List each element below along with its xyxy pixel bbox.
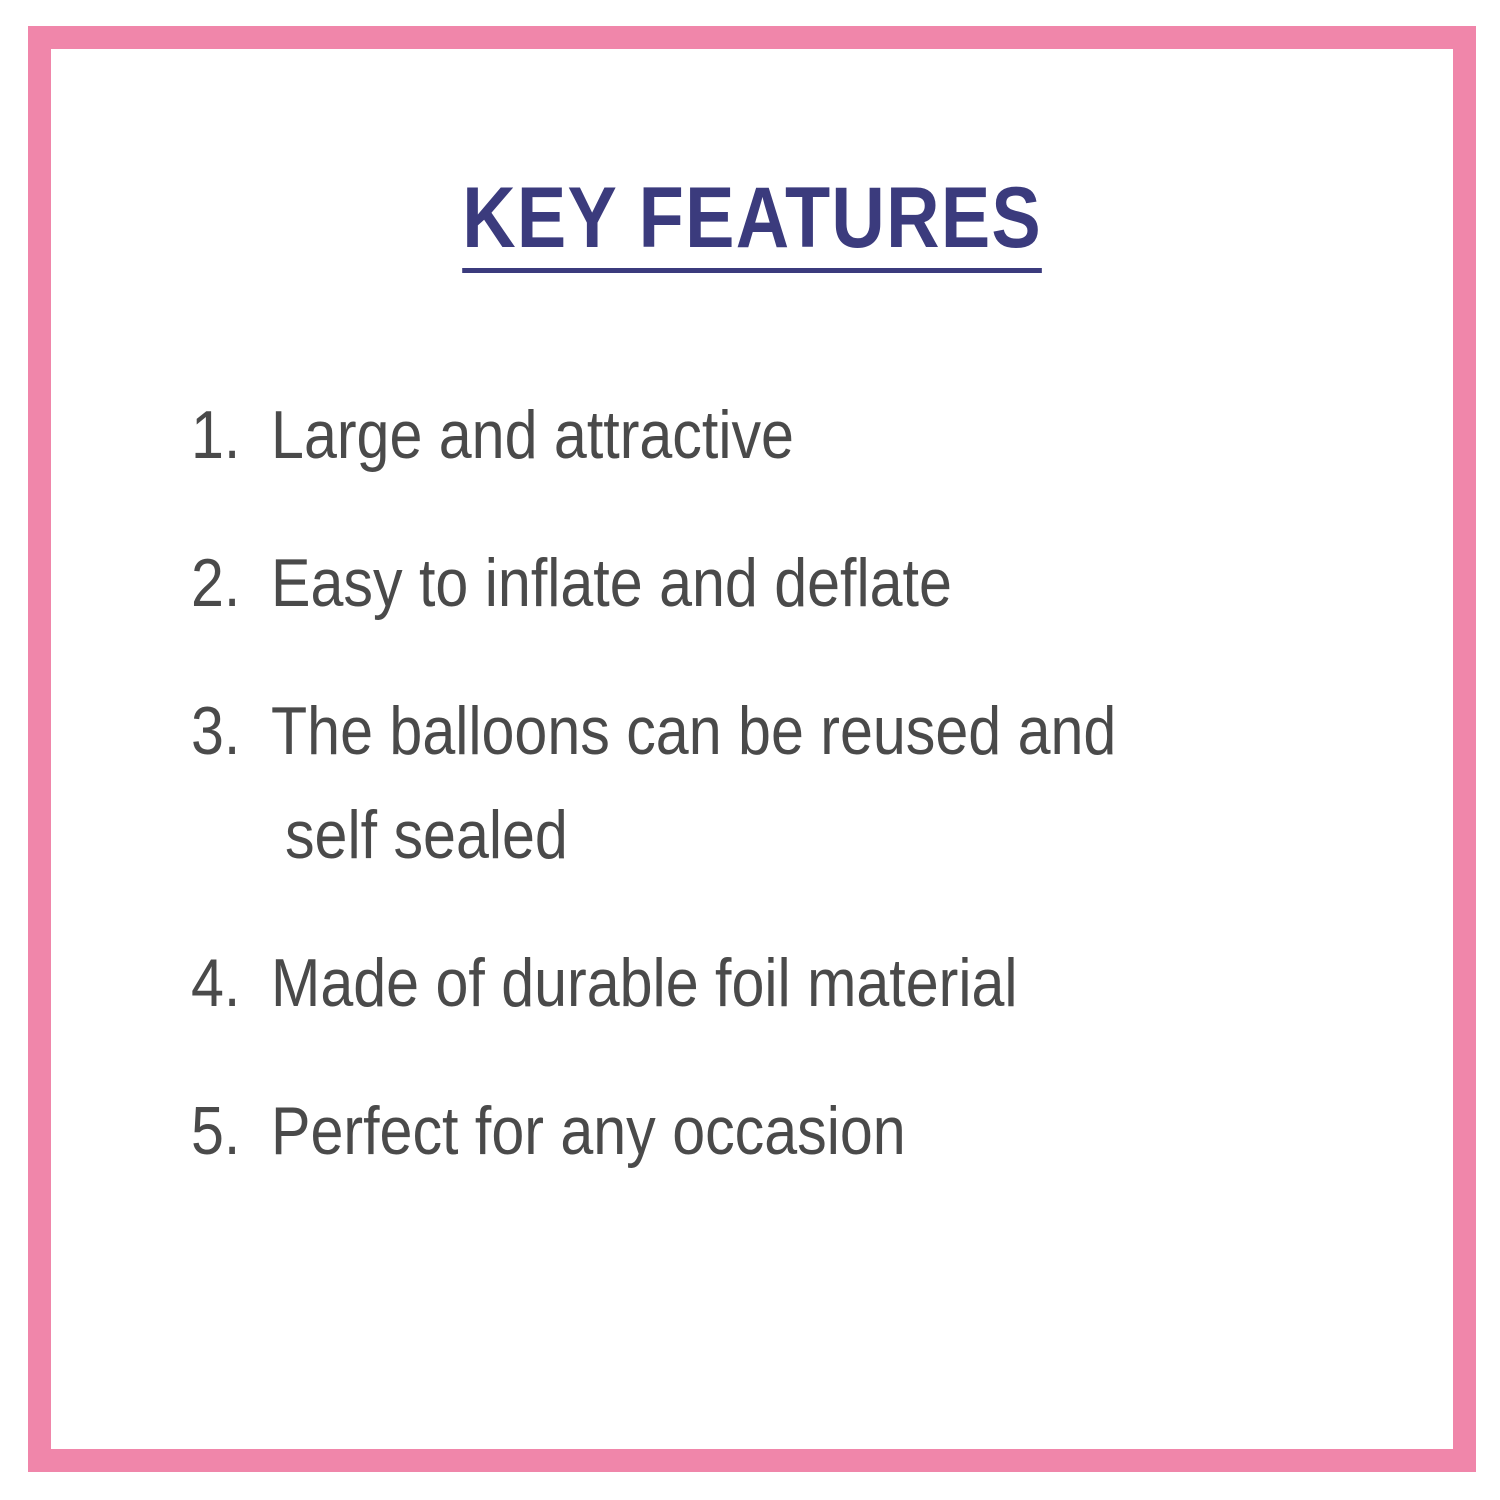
poster-content: KEY FEATURES 1.Large and attractive 2.Ea… <box>51 49 1453 1449</box>
list-item-continuation: self sealed <box>191 799 1287 871</box>
list-item: 4.Made of durable foil material <box>191 947 1287 1019</box>
list-item-number: 4. <box>191 947 271 1019</box>
list-item-label: The balloons can be reused and <box>271 693 1116 769</box>
key-features-poster: KEY FEATURES 1.Large and attractive 2.Ea… <box>0 0 1500 1500</box>
list-item: 2.Easy to inflate and deflate <box>191 547 1287 619</box>
page-title-text: KEY FEATURES <box>462 179 1042 273</box>
list-item-label: Large and attractive <box>271 397 794 473</box>
list-gap <box>191 871 1451 947</box>
features-list: 1.Large and attractive 2.Easy to inflate… <box>191 399 1451 1167</box>
list-item-number: 3. <box>191 695 271 767</box>
list-item-label: Made of durable foil material <box>271 945 1017 1021</box>
list-item: 3.The balloons can be reused and <box>191 695 1287 767</box>
list-gap <box>191 619 1451 695</box>
list-item-number: 1. <box>191 399 271 471</box>
list-item-number: 5. <box>191 1095 271 1167</box>
list-item: 1.Large and attractive <box>191 399 1287 471</box>
list-gap <box>191 471 1451 547</box>
list-item-number: 2. <box>191 547 271 619</box>
list-item-label: Perfect for any occasion <box>271 1093 906 1169</box>
list-gap <box>191 1019 1451 1095</box>
list-item: 5.Perfect for any occasion <box>191 1095 1287 1167</box>
list-item-label: Easy to inflate and deflate <box>271 545 952 621</box>
page-title: KEY FEATURES <box>51 179 1453 273</box>
